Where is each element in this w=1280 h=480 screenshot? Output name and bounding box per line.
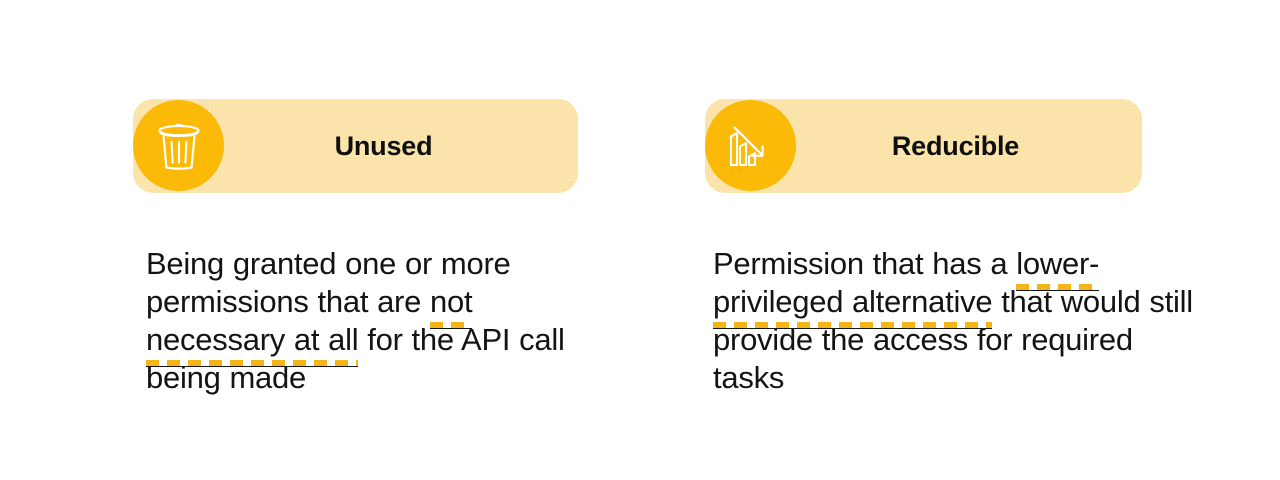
- description-text-before: Permission that has a: [713, 246, 1016, 281]
- card-title-unused: Unused: [133, 133, 578, 160]
- column-unused: Unused Being granted one or more permiss…: [133, 99, 578, 193]
- card-reducible[interactable]: Reducible: [705, 99, 1142, 193]
- card-unused[interactable]: Unused: [133, 99, 578, 193]
- column-reducible: Reducible Permission that has a lower-pr…: [705, 99, 1142, 193]
- card-title-reducible: Reducible: [705, 133, 1142, 160]
- infographic-canvas: Unused Being granted one or more permiss…: [0, 0, 1280, 480]
- description-unused: Being granted one or more permissions th…: [146, 245, 566, 397]
- description-reducible: Permission that has a lower-privileged a…: [713, 245, 1193, 397]
